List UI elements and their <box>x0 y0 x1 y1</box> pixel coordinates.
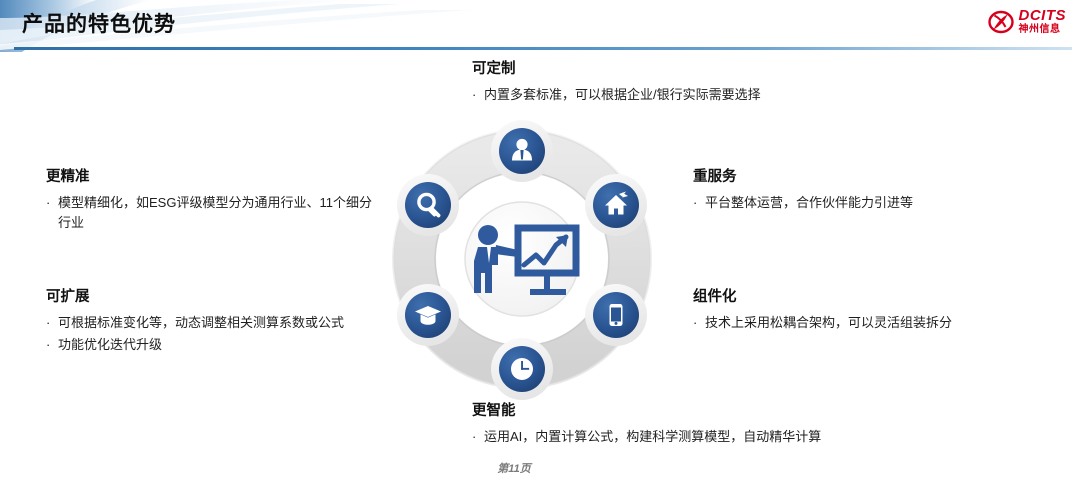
feature-block-kekuozhan: 可扩展 · 可根据标准变化等，动态调整相关测算系数或公式 · 功能优化迭代升级 <box>46 288 382 357</box>
bullet-marker: · <box>693 193 705 213</box>
feature-bullet: · 内置多套标准，可以根据企业/银行实际需要选择 <box>472 85 942 105</box>
ring-node-search <box>397 174 459 236</box>
feature-title: 重服务 <box>693 168 1033 187</box>
ring-node-house <box>585 174 647 236</box>
hexagon-ring-diagram <box>372 108 672 410</box>
bullet-marker: · <box>46 313 58 333</box>
feature-bullet-text: 平台整体运营，合作伙伴能力引进等 <box>705 193 1033 213</box>
ring-node-phone <box>585 284 647 346</box>
feature-bullet-text: 技术上采用松耦合架构，可以灵活组装拆分 <box>705 313 1033 333</box>
bullet-marker: · <box>46 193 58 233</box>
bullet-marker: · <box>472 427 484 447</box>
mobile-phone-icon <box>610 304 623 326</box>
ring-node-education <box>397 284 459 346</box>
logo-main-text: DCITS <box>1019 8 1067 23</box>
feature-title: 组件化 <box>693 288 1033 307</box>
feature-bullet-text: 运用AI，内置计算公式，构建科学测算模型，自动精华计算 <box>484 427 942 447</box>
page-number-footer: 第11页 <box>0 460 1080 476</box>
header-divider <box>14 47 1072 50</box>
feature-bullet-text: 内置多套标准，可以根据企业/银行实际需要选择 <box>484 85 942 105</box>
feature-title: 更精准 <box>46 168 382 187</box>
feature-title: 可定制 <box>472 60 942 79</box>
feature-block-zhongfuwu: 重服务 · 平台整体运营，合作伙伴能力引进等 <box>693 168 1033 215</box>
feature-title: 可扩展 <box>46 288 382 307</box>
feature-bullet: · 功能优化迭代升级 <box>46 335 382 355</box>
page-number-label: 第11页 <box>497 463 530 475</box>
bullet-marker: · <box>472 85 484 105</box>
feature-bullet-text: 功能优化迭代升级 <box>58 335 382 355</box>
bullet-marker: · <box>693 313 705 333</box>
feature-block-kedingzhi: 可定制 · 内置多套标准，可以根据企业/银行实际需要选择 <box>472 60 942 107</box>
dcits-swoosh-icon <box>988 10 1014 34</box>
feature-block-gengjingzhun: 更精准 · 模型精细化，如ESG评级模型分为通用行业、11个细分行业 <box>46 168 382 235</box>
feature-bullet: · 运用AI，内置计算公式，构建科学测算模型，自动精华计算 <box>472 427 942 447</box>
ring-node-user <box>491 120 553 182</box>
ring-node-clock <box>491 338 553 400</box>
feature-bullet-text: 可根据标准变化等，动态调整相关测算系数或公式 <box>58 313 382 333</box>
feature-block-zujianhua: 组件化 · 技术上采用松耦合架构，可以灵活组装拆分 <box>693 288 1033 335</box>
feature-bullet-text: 模型精细化，如ESG评级模型分为通用行业、11个细分行业 <box>58 193 382 233</box>
feature-bullet: · 技术上采用松耦合架构，可以灵活组装拆分 <box>693 313 1033 333</box>
brand-logo: DCITS 神州信息 <box>988 8 1067 35</box>
feature-bullet: · 可根据标准变化等，动态调整相关测算系数或公式 <box>46 313 382 333</box>
feature-bullet: · 模型精细化，如ESG评级模型分为通用行业、11个细分行业 <box>46 193 382 233</box>
feature-bullet: · 平台整体运营，合作伙伴能力引进等 <box>693 193 1033 213</box>
bullet-marker: · <box>46 335 58 355</box>
slide-header: 产品的特色优势 DCITS 神州信息 <box>0 0 1080 52</box>
clock-icon <box>511 358 533 380</box>
page-title: 产品的特色优势 <box>22 8 176 38</box>
logo-sub-text: 神州信息 <box>1019 25 1067 35</box>
